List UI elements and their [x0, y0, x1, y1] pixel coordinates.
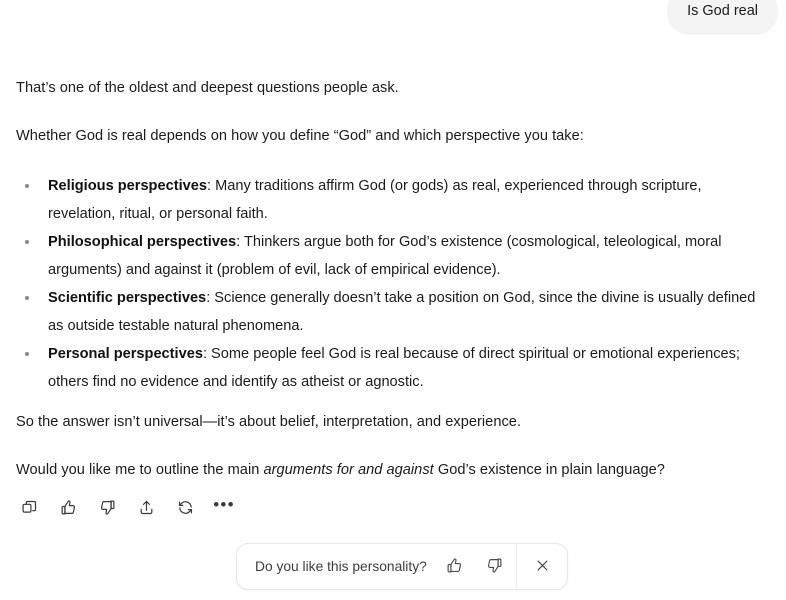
list-item-lead: Religious perspectives	[48, 178, 207, 194]
list-item: Religious perspectives: Many traditions …	[16, 172, 772, 228]
thumbs-up-icon	[446, 557, 463, 577]
list-item-lead: Scientific perspectives	[48, 290, 206, 306]
thumbs-up-icon	[60, 499, 77, 516]
followup-prefix: Would you like me to outline the main	[16, 462, 263, 478]
message-action-toolbar: •••	[14, 492, 239, 522]
thumbs-down-icon	[486, 557, 503, 577]
regenerate-icon	[177, 499, 194, 516]
user-message-row: Is God real	[667, 0, 778, 35]
assistant-framing-paragraph: Whether God is real depends on how you d…	[16, 126, 772, 148]
list-item-lead: Personal perspectives	[48, 346, 203, 362]
personality-feedback-bar: Do you like this personality?	[236, 543, 568, 590]
feedback-vote-group	[441, 553, 509, 581]
followup-suffix: God’s existence in plain language?	[434, 462, 665, 478]
list-item: Personal perspectives: Some people feel …	[16, 340, 772, 396]
followup-emphasis: arguments for and against	[263, 462, 433, 478]
more-options-button[interactable]: •••	[209, 492, 239, 522]
regenerate-button[interactable]	[170, 492, 200, 522]
thumbs-down-button[interactable]	[92, 492, 122, 522]
close-icon	[535, 558, 550, 576]
list-item-lead: Philosophical perspectives	[48, 234, 236, 250]
assistant-closing-paragraph: So the answer isn’t universal—it’s about…	[16, 412, 772, 434]
copy-icon	[21, 499, 38, 516]
more-options-icon: •••	[213, 496, 234, 513]
copy-button[interactable]	[14, 492, 44, 522]
user-message-bubble[interactable]: Is God real	[667, 0, 778, 35]
thumbs-down-icon	[99, 499, 116, 516]
feedback-close-button[interactable]	[517, 544, 567, 590]
feedback-thumbs-down-button[interactable]	[481, 553, 509, 581]
perspectives-list: Religious perspectives: Many traditions …	[16, 172, 772, 396]
assistant-followup-paragraph: Would you like me to outline the main ar…	[16, 460, 772, 482]
chat-conversation-view: Is God real That’s one of the oldest and…	[0, 0, 786, 600]
feedback-thumbs-up-button[interactable]	[441, 553, 469, 581]
list-item: Philosophical perspectives: Thinkers arg…	[16, 228, 772, 284]
assistant-intro-paragraph: That’s one of the oldest and deepest que…	[16, 78, 772, 100]
share-button[interactable]	[131, 492, 161, 522]
list-item: Scientific perspectives: Science general…	[16, 284, 772, 340]
feedback-question: Do you like this personality?	[237, 559, 427, 574]
thumbs-up-button[interactable]	[53, 492, 83, 522]
share-icon	[138, 499, 155, 516]
assistant-message: That’s one of the oldest and deepest que…	[16, 78, 772, 508]
